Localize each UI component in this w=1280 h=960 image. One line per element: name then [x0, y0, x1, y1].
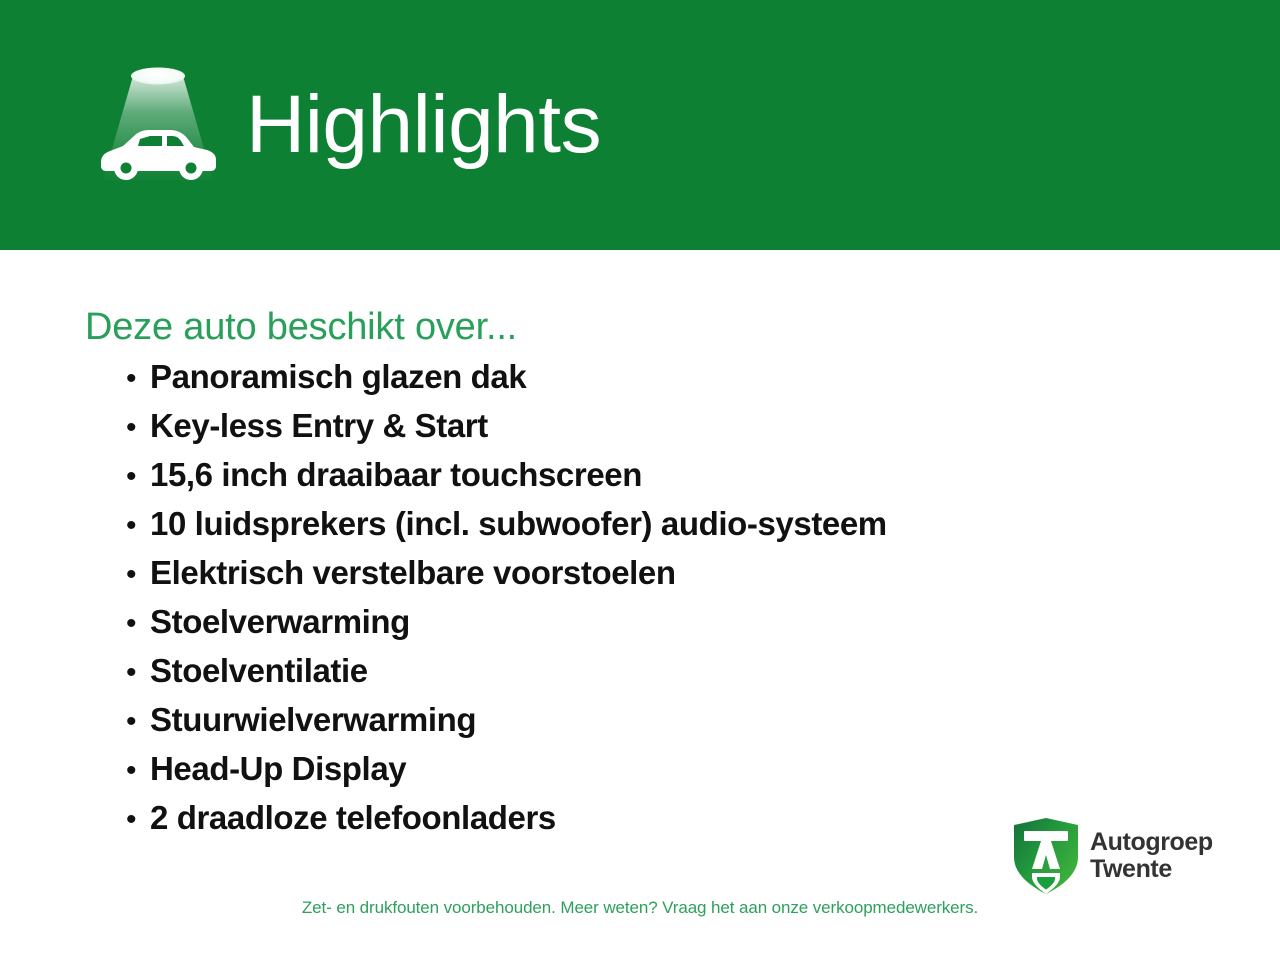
- list-item: • Key-less Entry & Start: [126, 401, 887, 450]
- lead-text: Deze auto beschikt over...: [85, 308, 517, 346]
- list-item-label: Stoelventilatie: [150, 646, 368, 695]
- header-bar: Highlights: [0, 0, 1280, 250]
- logo-line-2: Twente: [1090, 856, 1213, 883]
- bullet-dot-icon: •: [126, 697, 150, 746]
- brand-logo: Autogroep Twente: [1012, 816, 1242, 896]
- disclaimer-text: Zet- en drukfouten voorbehouden. Meer we…: [0, 898, 1280, 918]
- page-title: Highlights: [246, 84, 601, 166]
- list-item: • 15,6 inch draaibaar touchscreen: [126, 450, 887, 499]
- list-item: • Stuurwielverwarming: [126, 695, 887, 744]
- bullet-dot-icon: •: [126, 599, 150, 648]
- bullet-dot-icon: •: [126, 795, 150, 844]
- highlights-slide: Highlights Deze auto beschikt over... • …: [0, 0, 1280, 960]
- logo-line-1: Autogroep: [1090, 829, 1213, 856]
- bullet-dot-icon: •: [126, 354, 150, 403]
- bullet-dot-icon: •: [126, 550, 150, 599]
- bullet-dot-icon: •: [126, 648, 150, 697]
- bullet-dot-icon: •: [126, 501, 150, 550]
- bullet-dot-icon: •: [126, 452, 150, 501]
- list-item: • Stoelverwarming: [126, 597, 887, 646]
- list-item-label: 2 draadloze telefoonladers: [150, 793, 556, 842]
- logo-wordmark: Autogroep Twente: [1090, 829, 1213, 883]
- list-item-label: 10 luidsprekers (incl. subwoofer) audio-…: [150, 499, 887, 548]
- list-item-label: Panoramisch glazen dak: [150, 352, 526, 401]
- list-item-label: Key-less Entry & Start: [150, 401, 488, 450]
- list-item: • Elektrisch verstelbare voorstoelen: [126, 548, 887, 597]
- bullet-dot-icon: •: [126, 403, 150, 452]
- bullet-dot-icon: •: [126, 746, 150, 795]
- list-item: • 10 luidsprekers (incl. subwoofer) audi…: [126, 499, 887, 548]
- list-item-label: Stoelverwarming: [150, 597, 410, 646]
- list-item-label: Stuurwielverwarming: [150, 695, 476, 744]
- list-item-label: Elektrisch verstelbare voorstoelen: [150, 548, 676, 597]
- list-item-label: 15,6 inch draaibaar touchscreen: [150, 450, 642, 499]
- list-item: • Head-Up Display: [126, 744, 887, 793]
- list-item: • Stoelventilatie: [126, 646, 887, 695]
- shield-a-icon: [1012, 817, 1080, 895]
- list-item: • Panoramisch glazen dak: [126, 352, 887, 401]
- highlights-list: • Panoramisch glazen dak • Key-less Entr…: [126, 352, 887, 842]
- spotlight-car-icon: [88, 58, 228, 190]
- list-item-label: Head-Up Display: [150, 744, 406, 793]
- list-item: • 2 draadloze telefoonladers: [126, 793, 887, 842]
